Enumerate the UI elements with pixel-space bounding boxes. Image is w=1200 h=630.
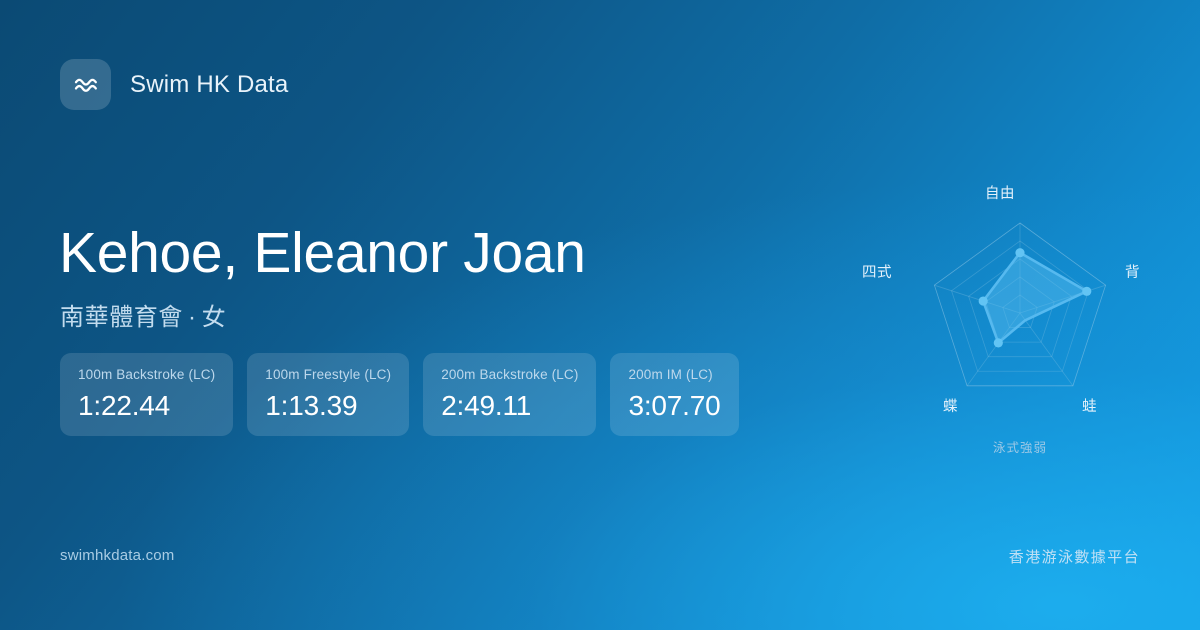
stroke-radar-chart: 泳式強弱 自由背蛙蝶四式 (860, 165, 1180, 475)
meta-separator: · (183, 304, 202, 331)
brand: Swim HK Data (60, 59, 288, 110)
footer-tagline: 香港游泳數據平台 (1009, 546, 1140, 567)
share-card: Swim HK Data Kehoe, Eleanor Joan 南華體育會·女… (0, 0, 1200, 630)
radar-axis-label: 自由 (985, 182, 1015, 203)
brand-name: Swim HK Data (130, 71, 288, 99)
wave-icon (60, 59, 111, 110)
stat-card: 200m Backstroke (LC)2:49.11 (423, 353, 596, 436)
footer-site-url: swimhkdata.com (60, 547, 175, 564)
stat-card-value: 1:13.39 (265, 392, 391, 420)
athlete-gender: 女 (202, 304, 227, 331)
stat-card-value: 2:49.11 (441, 392, 578, 420)
stat-card-value: 1:22.44 (78, 392, 215, 420)
stat-card: 200m IM (LC)3:07.70 (610, 353, 738, 436)
radar-axis-label: 四式 (862, 261, 892, 282)
athlete-meta: 南華體育會·女 (60, 297, 226, 332)
radar-axis-label: 蝶 (943, 395, 958, 416)
stat-card-label: 200m Backstroke (LC) (441, 368, 578, 382)
stat-card-label: 200m IM (LC) (628, 368, 720, 382)
radar-axis-label: 蛙 (1082, 395, 1097, 416)
stat-card: 100m Freestyle (LC)1:13.39 (247, 353, 409, 436)
radar-svg (860, 165, 1180, 420)
stat-card-label: 100m Backstroke (LC) (78, 368, 215, 382)
page-title: Kehoe, Eleanor Joan (59, 222, 586, 285)
athlete-club: 南華體育會 (60, 304, 183, 331)
stat-card: 100m Backstroke (LC)1:22.44 (60, 353, 233, 436)
stat-card-list: 100m Backstroke (LC)1:22.44100m Freestyl… (60, 353, 739, 436)
radar-caption: 泳式強弱 (860, 437, 1180, 456)
radar-data-point (1082, 287, 1091, 296)
stat-card-value: 3:07.70 (628, 392, 720, 420)
radar-series-area (983, 253, 1087, 343)
radar-data-point (994, 338, 1003, 347)
stat-card-label: 100m Freestyle (LC) (265, 368, 391, 382)
radar-axis-label: 背 (1125, 261, 1140, 282)
radar-data-point (1015, 248, 1024, 257)
radar-spoke (1020, 313, 1073, 386)
radar-data-point (979, 296, 988, 305)
